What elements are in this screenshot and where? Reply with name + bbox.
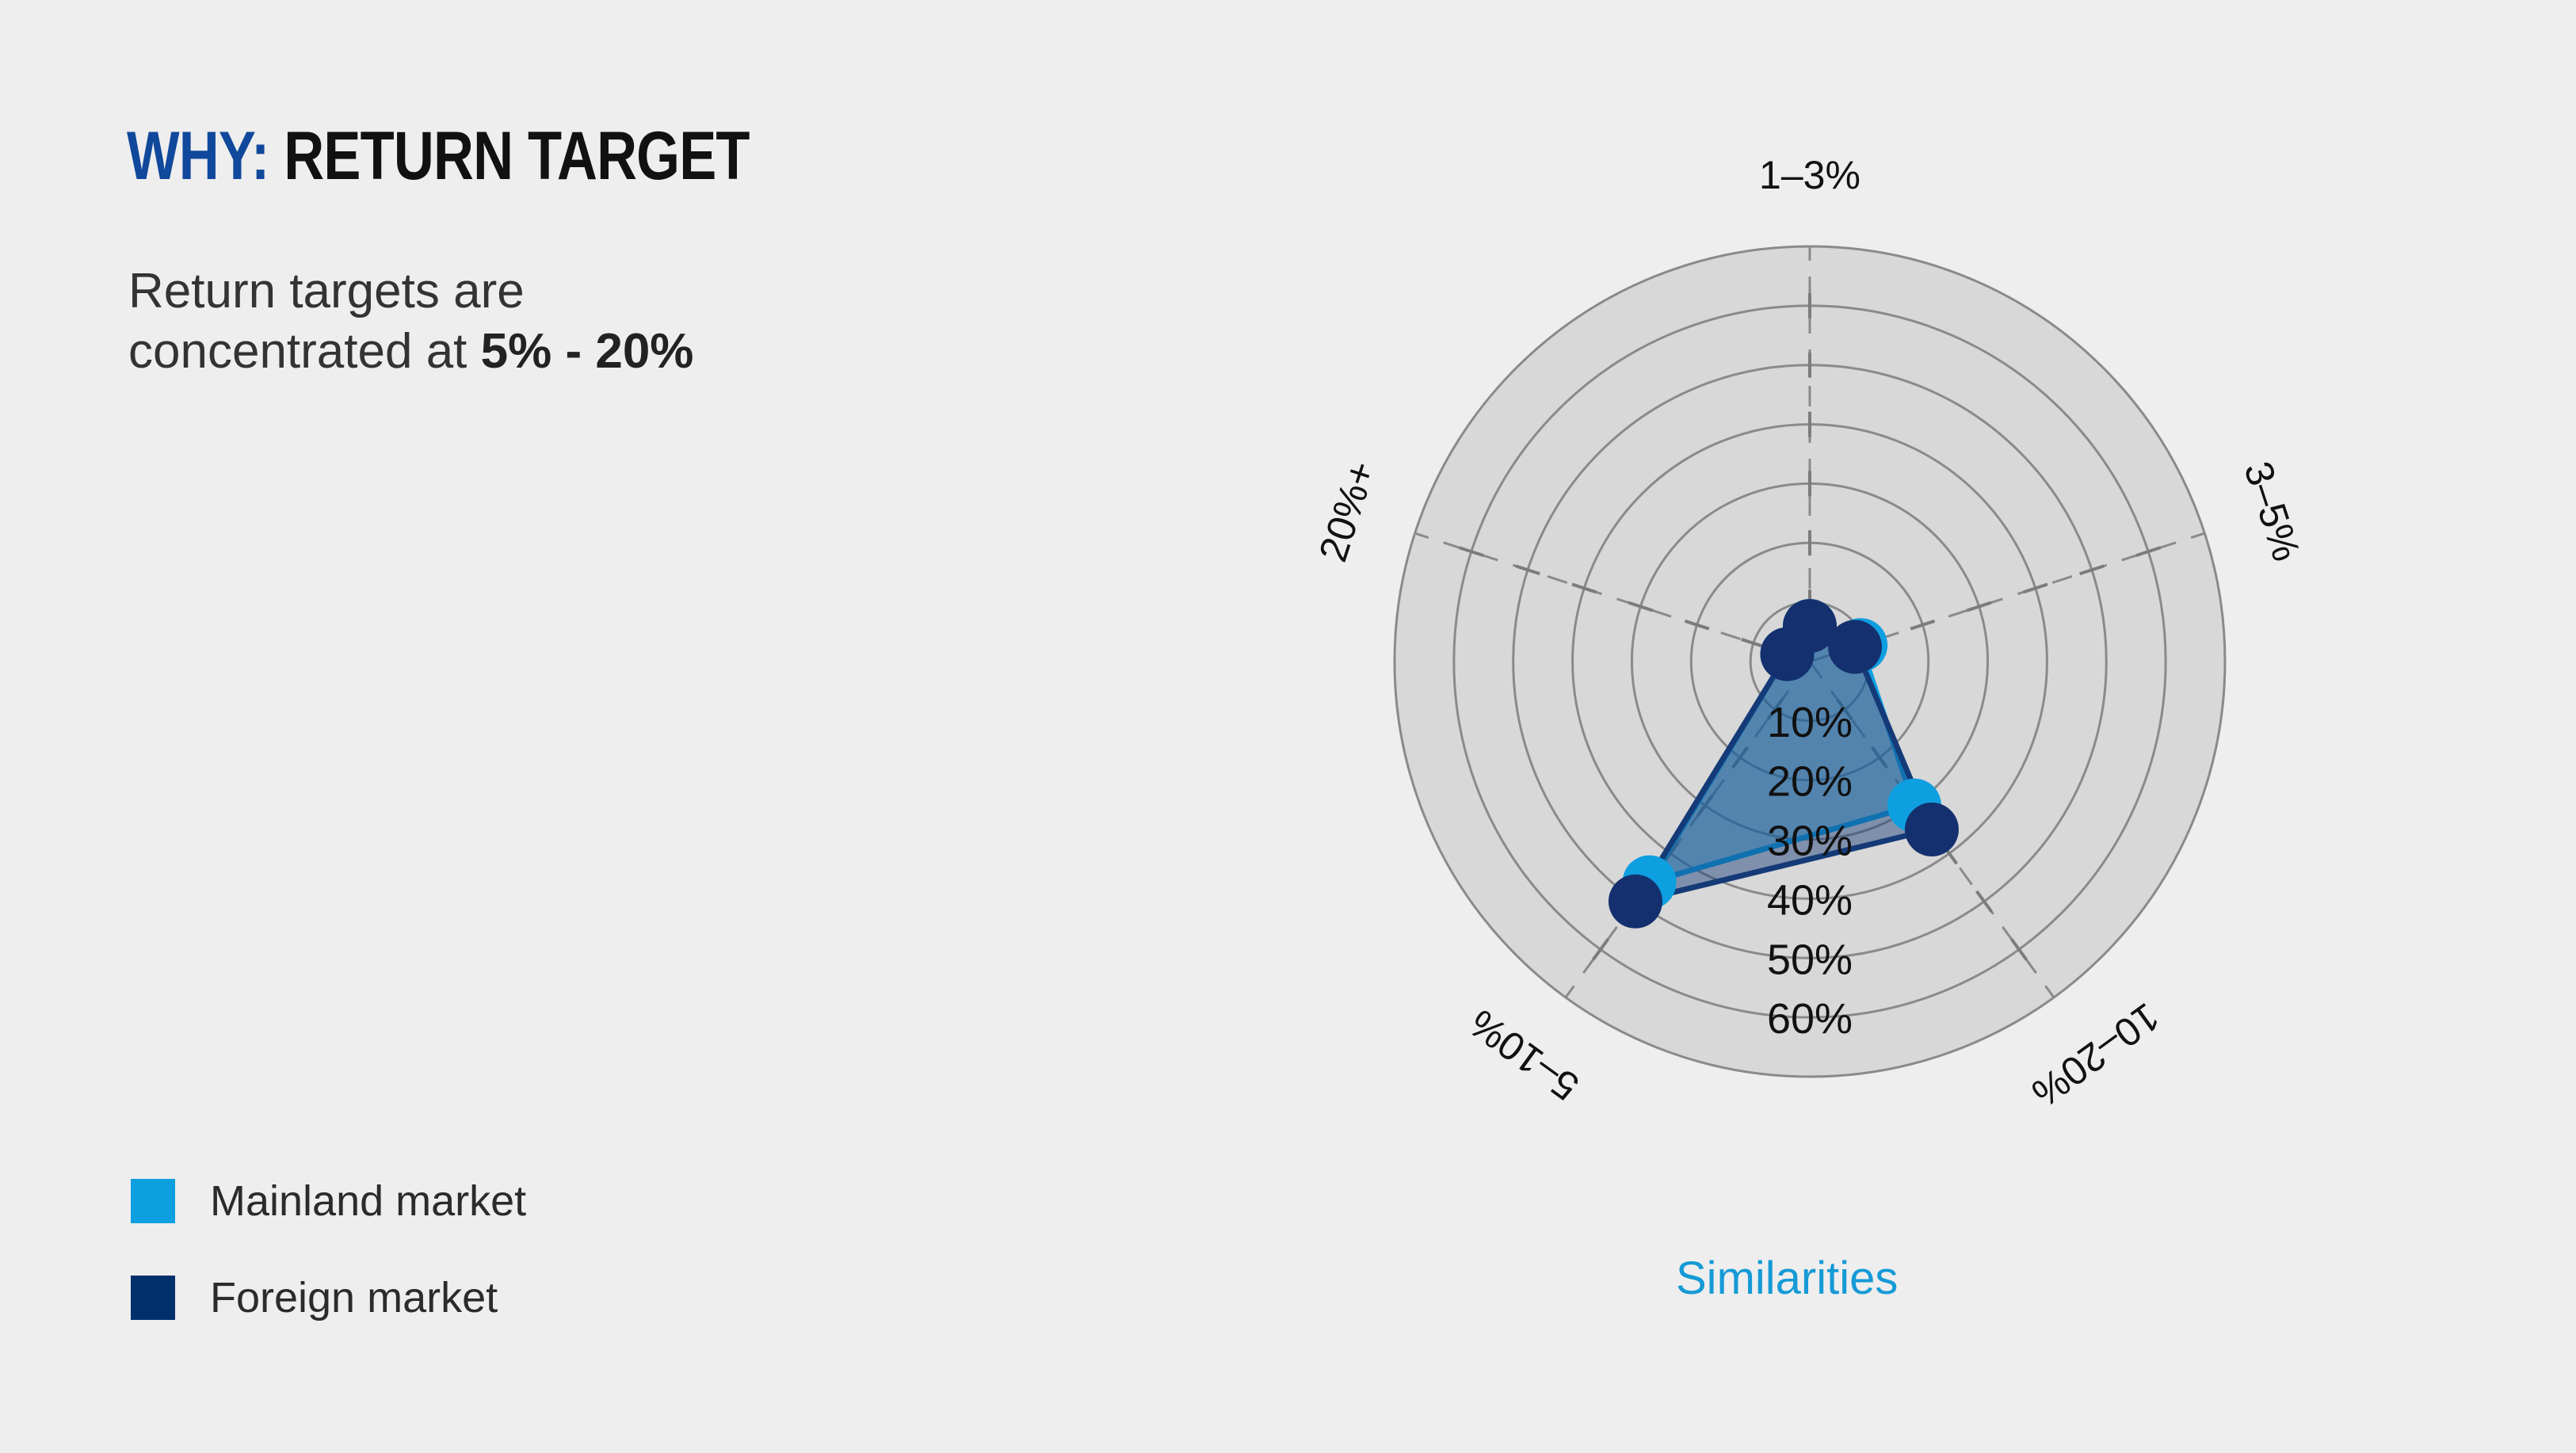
- radar-radial-label-30: 30%: [1767, 818, 1853, 865]
- chart-caption: Similarities: [1676, 1252, 1898, 1305]
- subtitle-line-1: Return targets are: [128, 264, 525, 318]
- radar-radial-label-50: 50%: [1767, 936, 1853, 983]
- legend-swatch-mainland: [131, 1179, 175, 1223]
- page-title-rest: RETURN TARGET: [269, 118, 750, 194]
- radar-radial-label-60: 60%: [1767, 995, 1853, 1043]
- radar-point-foreign-4[interactable]: [1761, 627, 1815, 681]
- radar-point-foreign-2[interactable]: [1905, 803, 1959, 856]
- radar-radial-label-20: 20%: [1767, 758, 1853, 806]
- radar-axis-label-1: 3–5%: [2235, 456, 2309, 566]
- legend-item-foreign[interactable]: Foreign market: [131, 1273, 526, 1322]
- radar-axis-label-3: 5–10%: [1461, 1001, 1587, 1109]
- radar-radial-label-40: 40%: [1767, 876, 1853, 924]
- legend-item-mainland[interactable]: Mainland market: [131, 1177, 526, 1226]
- legend-swatch-foreign: [131, 1276, 175, 1320]
- page-title-prefix: WHY:: [127, 118, 269, 194]
- page-title: WHY: RETURN TARGET: [127, 117, 750, 196]
- legend-label-foreign: Foreign market: [210, 1273, 498, 1322]
- subtitle: Return targets are concentrated at 5% - …: [128, 261, 693, 381]
- subtitle-line-2-bold: 5% - 20%: [481, 324, 694, 379]
- chart-legend: Mainland market Foreign market: [131, 1177, 526, 1370]
- radar-axis-label-0: 1–3%: [1759, 153, 1860, 197]
- radar-axis-label-4: 20%+: [1311, 456, 1384, 566]
- slide-root: WHY: RETURN TARGET Return targets are co…: [0, 0, 2576, 1453]
- radar-axis-label-2: 10–20%: [2024, 994, 2167, 1115]
- radar-chart-svg: 10%20%30%40%50%60% 1–3%3–5%10–20%5–10%20…: [1236, 63, 2441, 1236]
- radar-radial-label-10: 10%: [1767, 699, 1853, 746]
- radar-point-foreign-1[interactable]: [1828, 620, 1882, 674]
- legend-label-mainland: Mainland market: [210, 1177, 526, 1226]
- radar-point-foreign-3[interactable]: [1609, 875, 1662, 929]
- radar-chart: 10%20%30%40%50%60% 1–3%3–5%10–20%5–10%20…: [1236, 63, 2441, 1236]
- subtitle-line-2-plain: concentrated at: [128, 324, 481, 379]
